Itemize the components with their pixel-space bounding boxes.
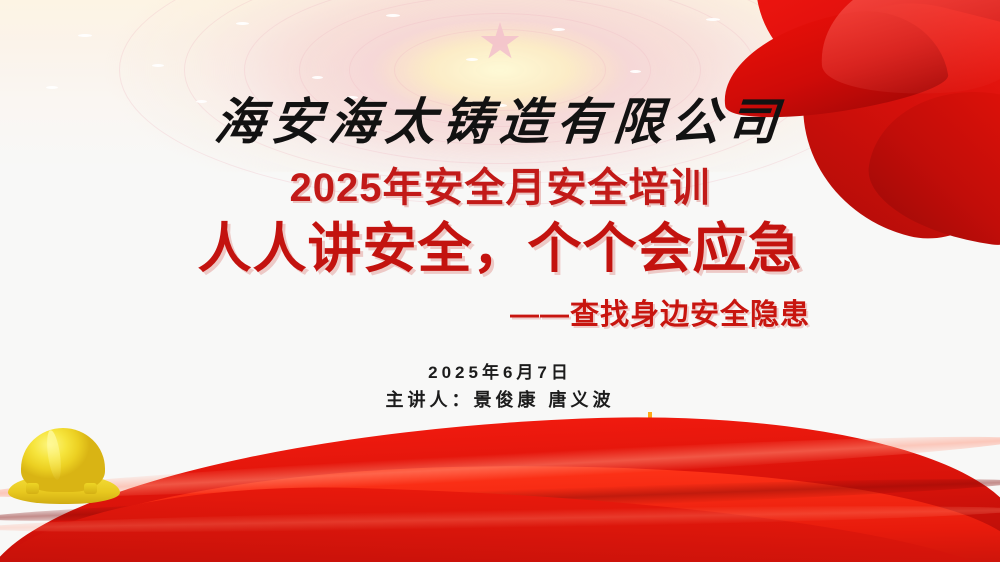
company-name: 海安海太铸造有限公司 — [0, 82, 1000, 154]
presentation-slide: 海安海太铸造有限公司 2025年安全月安全培训 人人讲安全，个个会应急 ——查找… — [0, 0, 1000, 562]
slogan-subtitle: ——查找身边安全隐患 — [0, 291, 1000, 333]
slogan-headline: 人人讲安全，个个会应急 — [0, 204, 1000, 283]
presenters: 主讲人：景俊康 唐义波 — [0, 386, 1000, 412]
event-date: 2025年6月7日 — [0, 358, 1000, 383]
slide-text-block: 海安海太铸造有限公司 2025年安全月安全培训 人人讲安全，个个会应急 ——查找… — [0, 0, 1000, 562]
